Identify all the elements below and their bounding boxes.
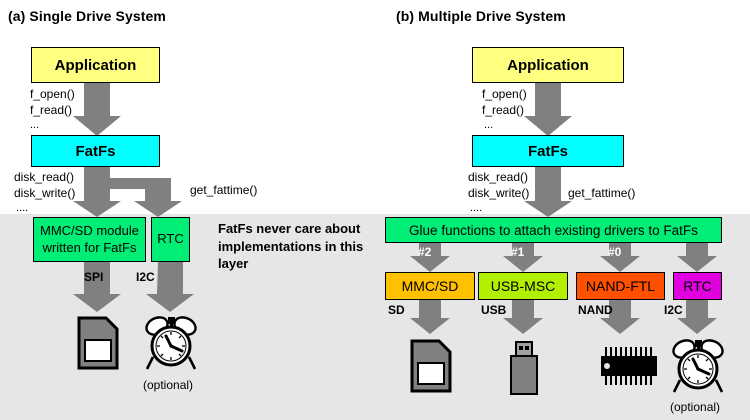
panel-a-application-box[interactable]: Application [31, 47, 160, 83]
panel-a-label-ellipsis-top: ... [30, 119, 39, 131]
arrow-fatfs-to-mmcsd-a [73, 167, 121, 217]
panel-b-drive-number-0: #0 [608, 245, 621, 259]
panel-a-note: FatFs never care about implementations i… [218, 220, 368, 273]
arrow-app-to-fatfs-b [524, 82, 572, 136]
panel-b-glue-box[interactable]: Glue functions to attach existing driver… [385, 217, 722, 243]
panel-b-label-sd: SD [388, 303, 405, 317]
panel-a-label-spi: SPI [84, 270, 103, 284]
panel-b-optional-label: (optional) [670, 400, 720, 414]
panel-a-label-f-open: f_open() [30, 87, 75, 101]
panel-b-mmcsd-box[interactable]: MMC/SD [385, 272, 475, 300]
panel-b-label-i2c: I2C [664, 303, 683, 317]
panel-a-rtc-box[interactable]: RTC [151, 217, 190, 262]
panel-b-drive-number-1: #1 [511, 245, 524, 259]
panel-b-label-ellipsis-top: ... [484, 119, 493, 131]
alarm-clock-icon [671, 336, 725, 396]
panel-a-fatfs-box[interactable]: FatFs [31, 135, 160, 167]
diagram-root: (a) Single Drive System Application f_op… [0, 0, 750, 420]
alarm-clock-icon [144, 313, 198, 373]
panel-b-title: (b) Multiple Drive System [396, 8, 566, 24]
sd-card-icon [409, 338, 453, 394]
panel-b-usbmsc-box[interactable]: USB-MSC [478, 272, 568, 300]
panel-b-label-f-read: f_read() [482, 103, 524, 117]
sd-card-icon [76, 315, 120, 371]
panel-b-rtc-box[interactable]: RTC [673, 272, 722, 300]
panel-a-label-disk-read: disk_read() [14, 170, 74, 184]
panel-b-fatfs-box[interactable]: FatFs [472, 135, 624, 167]
panel-b-label-disk-write: disk_write() [468, 186, 529, 200]
panel-b-label-ellipsis-bottom: .... [470, 202, 482, 214]
panel-a-title: (a) Single Drive System [8, 8, 166, 24]
panel-b-label-get-fattime: get_fattime() [568, 186, 635, 200]
arrow-fatfs-to-glue-b [524, 167, 572, 217]
panel-b-label-nand: NAND [578, 303, 613, 317]
panel-b-drive-number-2: #2 [418, 245, 431, 259]
arrow-fatfs-to-rtc-a [110, 178, 182, 217]
arrow-app-to-fatfs-a [73, 82, 121, 136]
panel-a-label-ellipsis-bottom: .... [16, 202, 28, 214]
panel-a-label-get-fattime: get_fattime() [190, 183, 257, 197]
panel-b-application-box[interactable]: Application [472, 47, 624, 83]
panel-b-label-disk-read: disk_read() [468, 170, 528, 184]
panel-b-label-f-open: f_open() [482, 87, 527, 101]
panel-a-label-disk-write: disk_write() [14, 186, 75, 200]
panel-a-mmcsd-module-box[interactable]: MMC/SD module written for FatFs [33, 217, 146, 262]
panel-a-label-f-read: f_read() [30, 103, 72, 117]
panel-a-optional-label: (optional) [143, 378, 193, 392]
usb-stick-icon [508, 340, 540, 396]
panel-b-label-usb: USB [481, 303, 506, 317]
panel-a-label-i2c: I2C [136, 270, 155, 284]
panel-b-nandftl-box[interactable]: NAND-FTL [576, 272, 665, 300]
nand-chip-icon [599, 345, 661, 387]
